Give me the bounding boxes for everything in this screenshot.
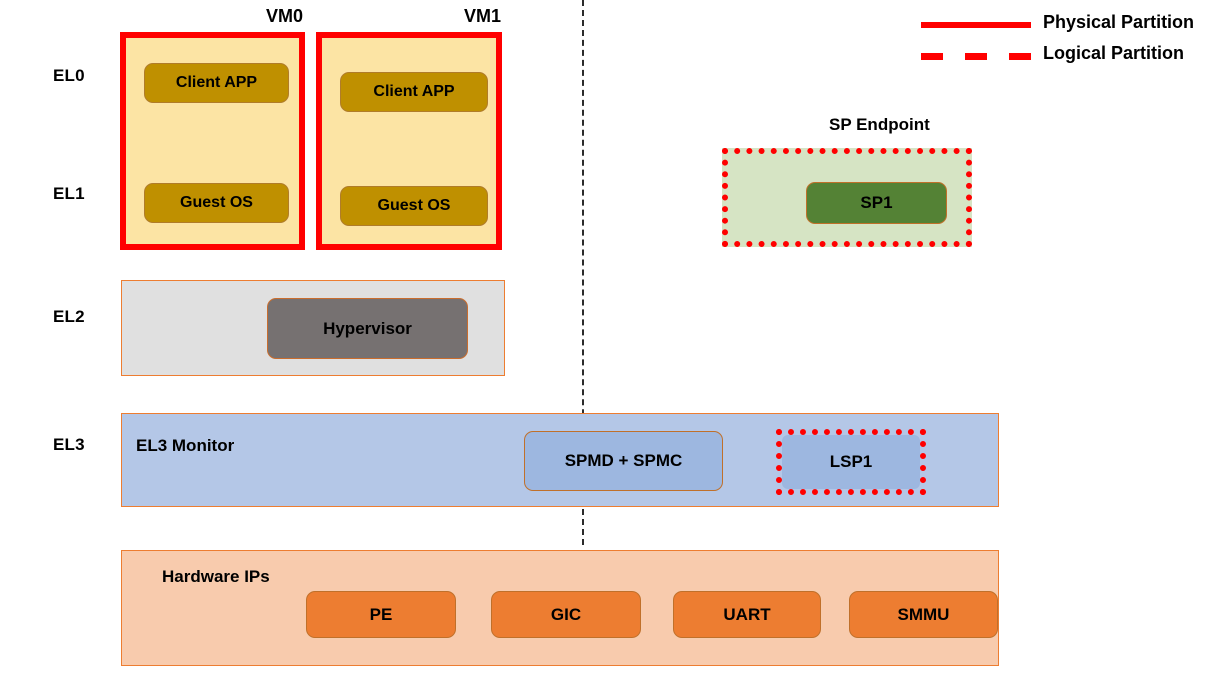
hardware-ip-gic[interactable]: GIC bbox=[491, 591, 641, 638]
sp-endpoint-title: SP Endpoint bbox=[829, 115, 930, 135]
vm0-title: VM0 bbox=[180, 6, 303, 27]
el-label-el3: EL3 bbox=[53, 435, 85, 455]
vm1-client-app[interactable]: Client APP bbox=[340, 72, 488, 112]
hardware-ip-pe[interactable]: PE bbox=[306, 591, 456, 638]
hardware-ip-smmu[interactable]: SMMU bbox=[849, 591, 998, 638]
legend-label-logical-partition: Logical Partition bbox=[1043, 43, 1184, 64]
vm1-title: VM1 bbox=[378, 6, 501, 27]
hypervisor-node[interactable]: Hypervisor bbox=[267, 298, 468, 359]
vm1-physical-partition[interactable]: Client APP Guest OS bbox=[316, 32, 502, 250]
el-label-el0: EL0 bbox=[53, 66, 85, 86]
legend: Physical Partition Logical Partition bbox=[921, 12, 1211, 70]
el-label-el2: EL2 bbox=[53, 307, 85, 327]
diagram-canvas: Physical Partition Logical Partition EL0… bbox=[0, 0, 1220, 696]
vm0-guest-os[interactable]: Guest OS bbox=[144, 183, 289, 223]
lsp1-node[interactable]: LSP1 bbox=[782, 435, 920, 489]
vm0-physical-partition[interactable]: Client APP Guest OS bbox=[120, 32, 305, 250]
sp1-node[interactable]: SP1 bbox=[806, 182, 947, 224]
legend-label-physical-partition: Physical Partition bbox=[1043, 12, 1194, 33]
hardware-ips-band: Hardware IPs PE GIC UART SMMU bbox=[121, 550, 999, 666]
vm1-guest-os[interactable]: Guest OS bbox=[340, 186, 488, 226]
el3-band: EL3 Monitor SPMD + SPMC LSP1 bbox=[121, 413, 999, 507]
el2-band: Hypervisor bbox=[121, 280, 505, 376]
lsp1-logical-partition[interactable]: LSP1 bbox=[776, 429, 926, 495]
sp-endpoint-logical-partition[interactable]: SP1 bbox=[722, 148, 972, 247]
legend-swatch-logical-partition bbox=[921, 53, 1031, 60]
el-label-el1: EL1 bbox=[53, 184, 85, 204]
vm0-client-app[interactable]: Client APP bbox=[144, 63, 289, 103]
el3-monitor-label: EL3 Monitor bbox=[136, 436, 234, 456]
hardware-ip-uart[interactable]: UART bbox=[673, 591, 821, 638]
spmd-spmc-node[interactable]: SPMD + SPMC bbox=[524, 431, 723, 491]
hardware-ips-label: Hardware IPs bbox=[162, 567, 270, 587]
legend-swatch-physical-partition bbox=[921, 22, 1031, 28]
